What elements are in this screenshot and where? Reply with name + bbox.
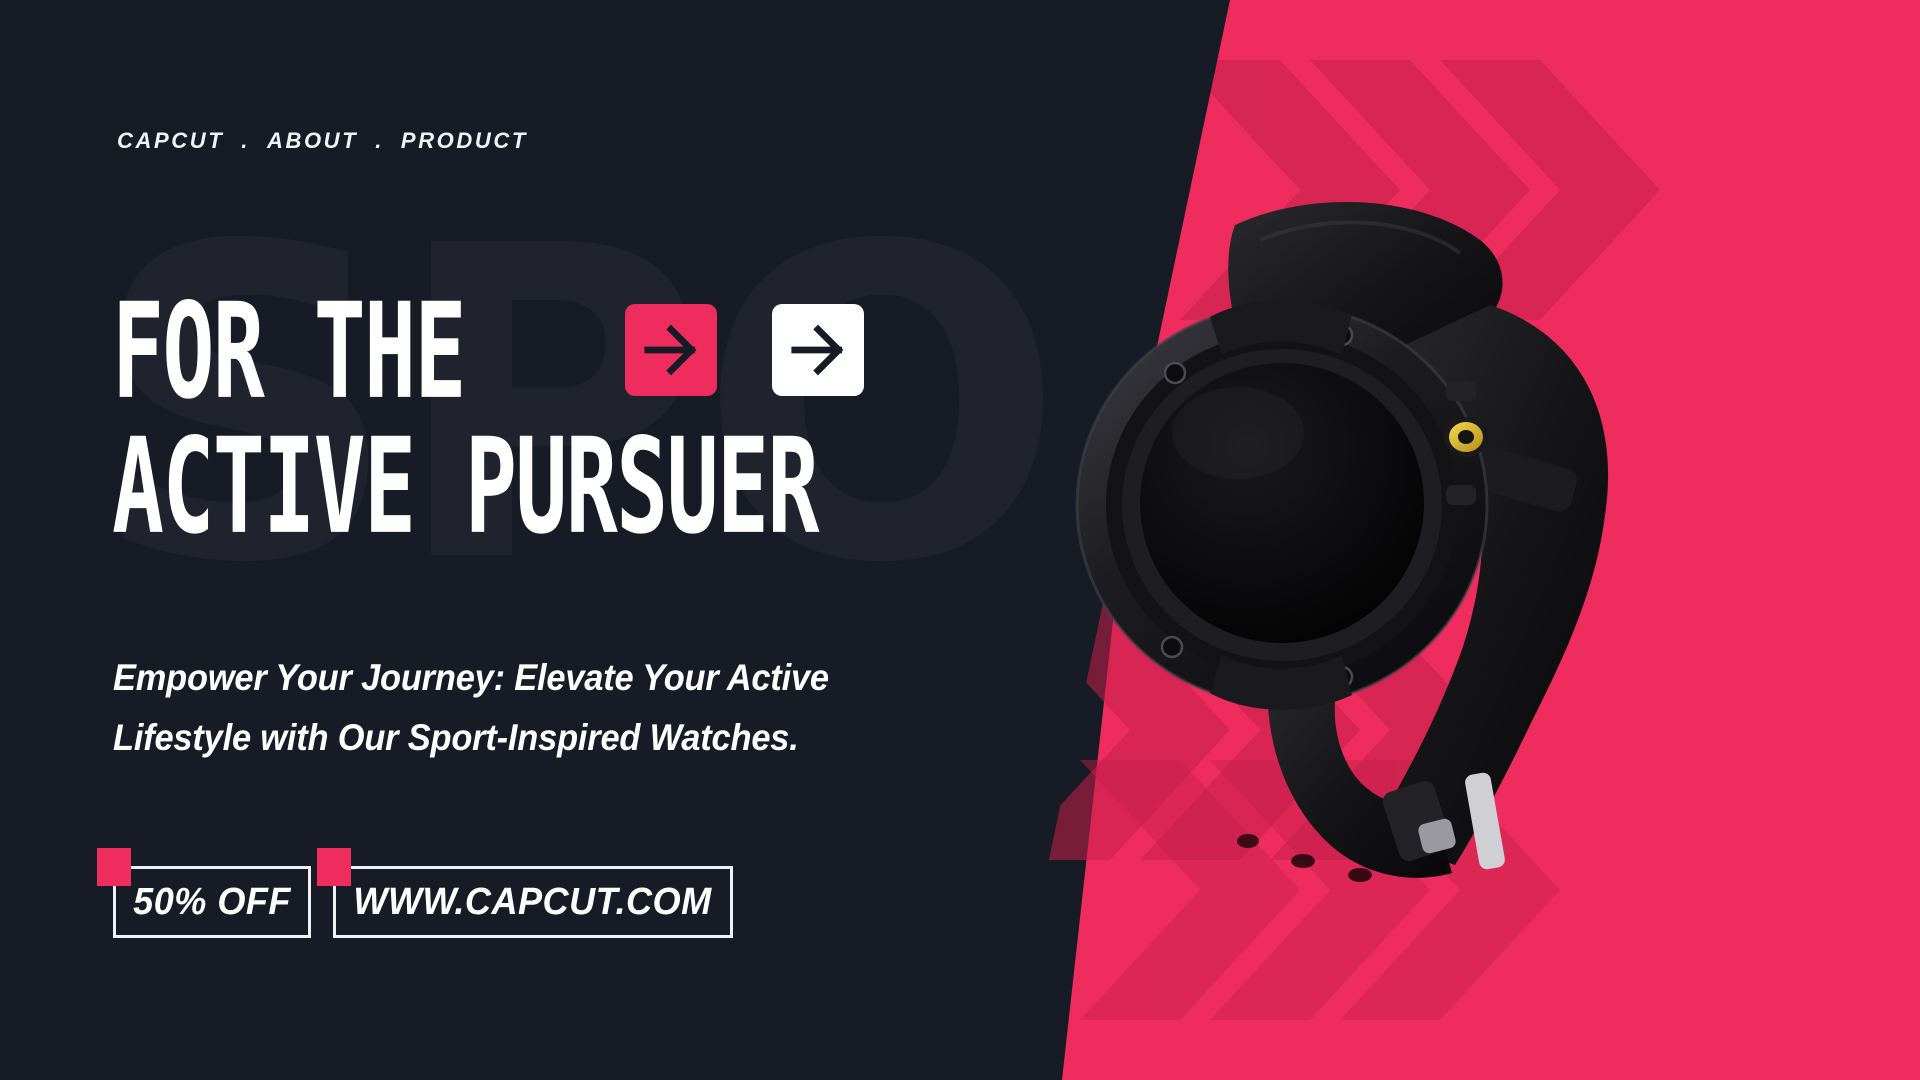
arrow-button-group [625,304,864,396]
arrow-right-icon [787,319,849,381]
cta-arrow-button-pink[interactable] [625,304,717,396]
headline-line-1: FOR THE [112,288,465,418]
corner-square-accent [97,848,131,886]
content-layer: CAPCUT . ABOUT . PRODUCT FOR THE [0,0,1920,1080]
nav-item-capcut[interactable]: CAPCUT [117,128,224,154]
subheading-line-2: Lifestyle with Our Sport-Inspired Watche… [113,708,922,768]
discount-badge-wrapper: 50% OFF [113,866,311,938]
arrow-right-icon [640,319,702,381]
nav-item-product[interactable]: PRODUCT [401,128,528,154]
headline-line-2: ACTIVE PURSUER [112,423,818,553]
discount-label: 50% OFF [133,881,291,924]
website-badge[interactable]: WWW.CAPCUT.COM [333,866,733,938]
corner-square-accent [317,848,351,886]
nav-separator-2: . [358,128,401,154]
top-navigation: CAPCUT . ABOUT . PRODUCT [117,128,528,154]
hero-headline: FOR THE [112,300,994,542]
discount-badge[interactable]: 50% OFF [113,866,311,938]
nav-item-about[interactable]: ABOUT [267,128,358,154]
website-badge-wrapper: WWW.CAPCUT.COM [333,866,733,938]
footer-badge-row: 50% OFF WWW.CAPCUT.COM [113,866,733,938]
headline-row-2: ACTIVE PURSUER [112,435,994,542]
cta-arrow-button-white[interactable] [772,304,864,396]
nav-separator-1: . [224,128,267,154]
headline-row-1: FOR THE [112,300,994,407]
poster-canvas: SPO [0,0,1920,1080]
hero-subheading: Empower Your Journey: Elevate Your Activ… [113,648,922,768]
subheading-line-1: Empower Your Journey: Elevate Your Activ… [113,648,922,708]
website-label: WWW.CAPCUT.COM [354,881,712,924]
